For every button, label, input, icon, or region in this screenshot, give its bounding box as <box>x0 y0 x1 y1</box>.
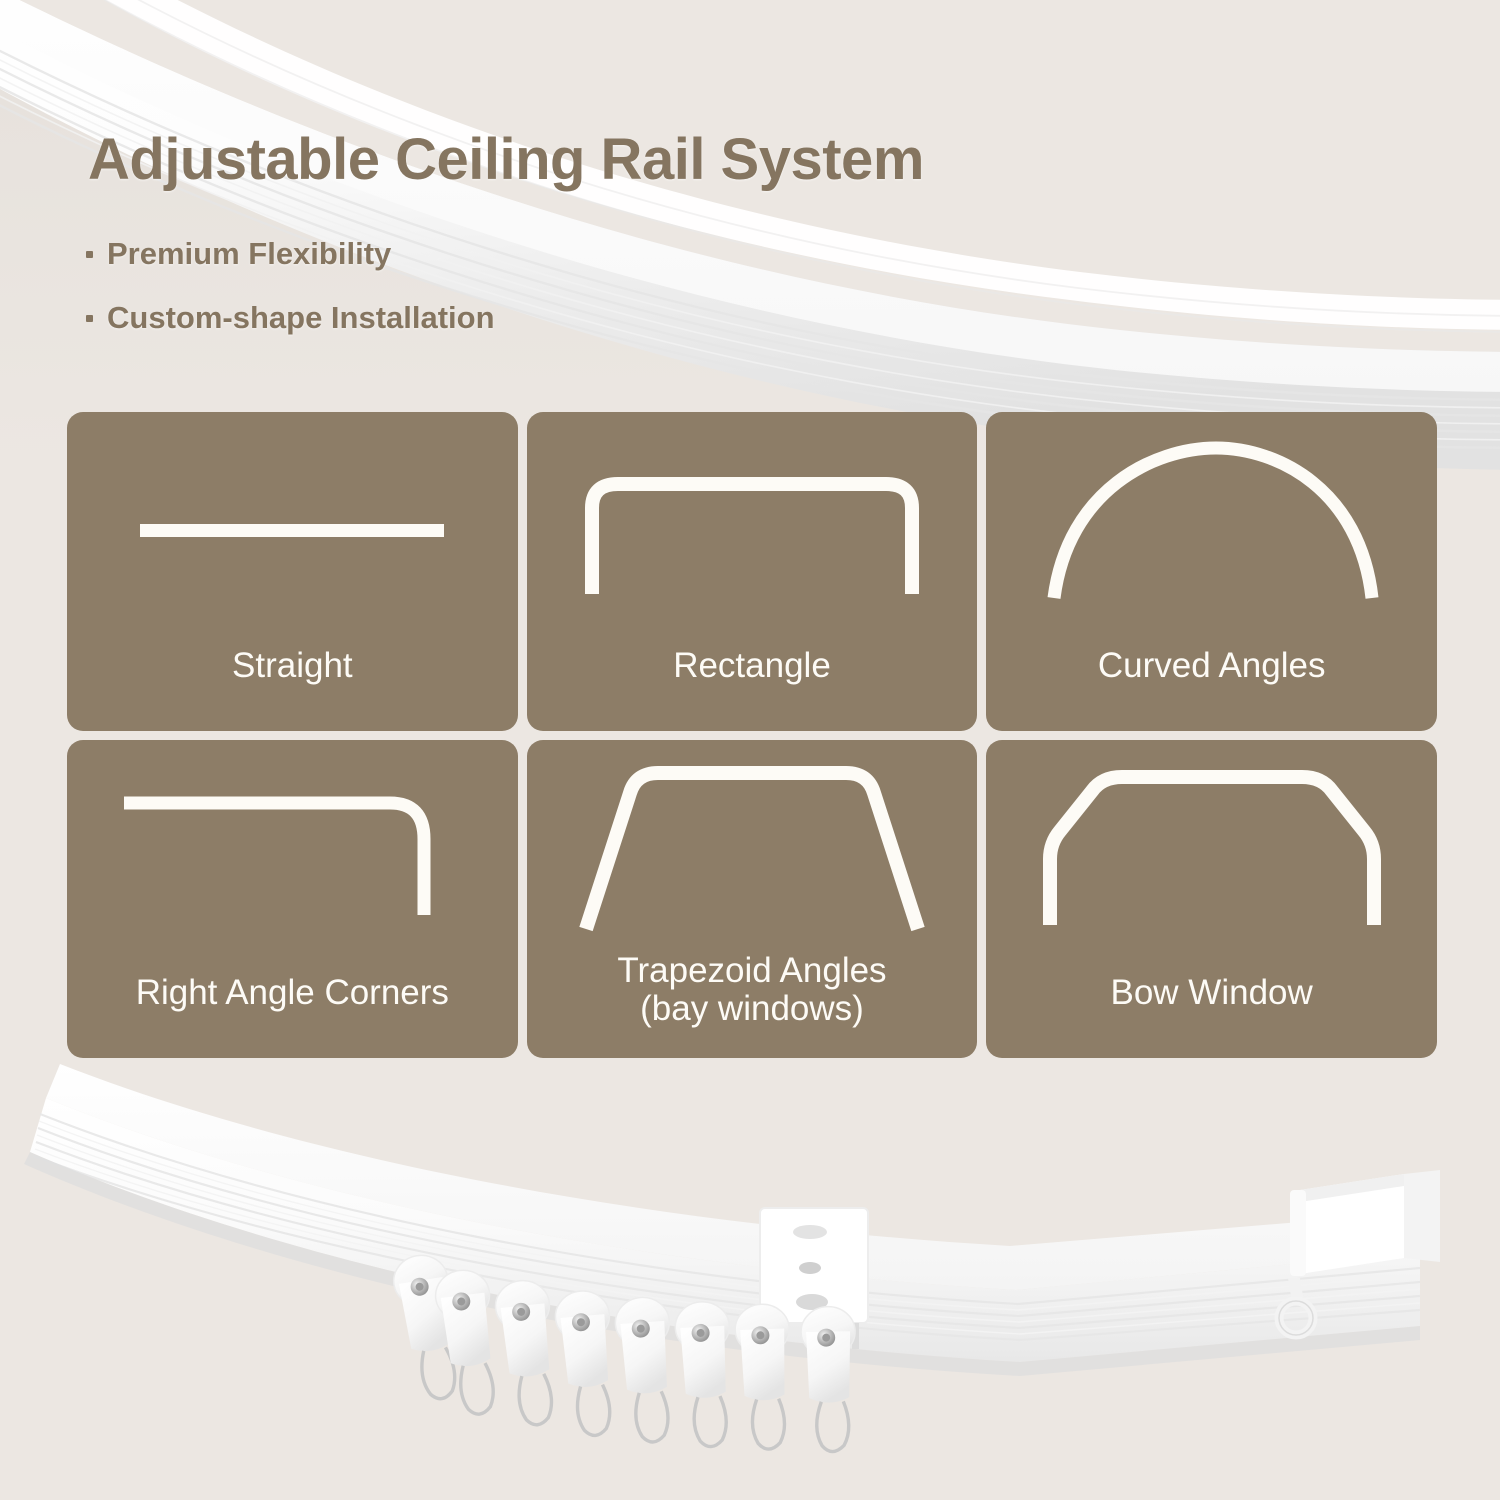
shape-card-right-angle-corners[interactable]: Right Angle Corners <box>67 740 518 1059</box>
shape-card-straight[interactable]: Straight <box>67 412 518 731</box>
shape-card-label: Curved Angles <box>1088 647 1336 731</box>
shape-card-label: Straight <box>222 647 363 731</box>
shape-options-grid: Straight Rectangle Curved Angles <box>67 412 1437 1058</box>
infographic-canvas: Adjustable Ceiling Rail System Premium F… <box>0 0 1500 1500</box>
feature-bullet-label: Custom-shape Installation <box>107 300 495 336</box>
shape-card-trapezoid-angles[interactable]: Trapezoid Angles (bay windows) <box>527 740 978 1059</box>
roller-carrier-group <box>390 1252 857 1452</box>
end-ring-hook <box>1279 1278 1313 1335</box>
rail-end-cap <box>1290 1170 1440 1276</box>
bullet-dot-icon <box>86 315 93 322</box>
trapezoid-rail-icon <box>527 740 978 969</box>
product-photo-top <box>0 0 1500 470</box>
feature-bullet-label: Premium Flexibility <box>107 236 391 272</box>
page-title: Adjustable Ceiling Rail System <box>88 126 924 193</box>
feature-bullet-list: Premium Flexibility Custom-shape Install… <box>86 236 495 364</box>
arch-rail-icon <box>986 412 1437 641</box>
straight-rail-icon <box>67 412 518 641</box>
ceiling-mount-bracket <box>760 1208 868 1349</box>
product-photo-bottom <box>0 1040 1500 1500</box>
l-corner-rail-icon <box>67 740 518 969</box>
shape-card-rectangle[interactable]: Rectangle <box>527 412 978 731</box>
shape-card-label: Bow Window <box>1101 974 1323 1058</box>
shape-card-label: Right Angle Corners <box>126 974 459 1058</box>
shape-card-bow-window[interactable]: Bow Window <box>986 740 1437 1059</box>
feature-bullet-item: Premium Flexibility <box>86 236 495 272</box>
bow-rail-icon <box>986 740 1437 969</box>
bullet-dot-icon <box>86 251 93 258</box>
feature-bullet-item: Custom-shape Installation <box>86 300 495 336</box>
shape-card-curved-angles[interactable]: Curved Angles <box>986 412 1437 731</box>
shape-card-label: Rectangle <box>663 647 841 731</box>
rectangle-rail-icon <box>527 412 978 641</box>
shape-card-label: Trapezoid Angles (bay windows) <box>607 952 896 1058</box>
